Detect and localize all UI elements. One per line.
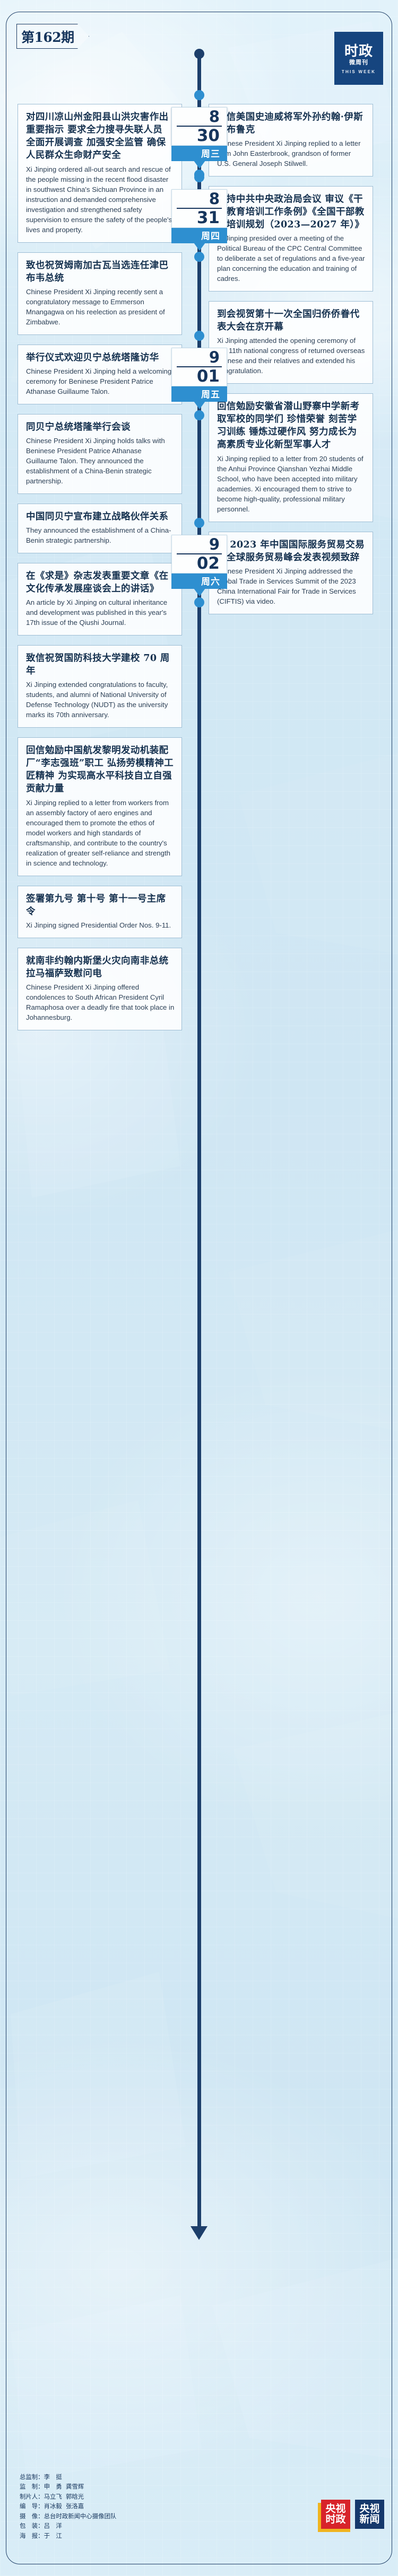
date-card: 901 [171, 348, 227, 386]
credit-line: 监 制：申 勇 龚雪辉 [20, 2482, 116, 2491]
timeline-date-marker: 831周四 [171, 189, 227, 243]
news-card-english-body: Xi Jinping ordered all-out search and re… [26, 164, 175, 235]
date-card: 830 [171, 107, 227, 146]
timeline-date-marker: 830周三 [171, 107, 227, 161]
timeline-news-card[interactable]: 就南非约翰内斯堡火灾向南非总统拉马福萨致慰问电Chinese President… [18, 948, 182, 1030]
date-month: 9 [172, 537, 227, 552]
news-card-chinese-title: 对四川凉山州金阳县山洪灾害作出重要指示 要求全力搜寻失联人员 全面开展调查 加强… [26, 111, 175, 162]
date-card: 831 [171, 189, 227, 228]
credit-line: 总监制：李 挺 [20, 2472, 116, 2482]
timeline-news-card[interactable]: 中国同贝宁宣布建立战略伙伴关系They announced the establ… [18, 504, 182, 553]
timeline-news-card[interactable]: 向 2023 年中国国际服务贸易交易会全球服务贸易峰会发表视频致辞Chinese… [209, 532, 373, 614]
news-card-english-body: Chinese President Xi Jinping held a welc… [26, 366, 175, 396]
date-month: 8 [172, 192, 227, 207]
news-card-chinese-title: 举行仪式欢迎贝宁总统塔隆访华 [26, 351, 175, 364]
news-card-english-body: Xi Jinping presided over a meeting of th… [217, 233, 366, 284]
news-card-chinese-title: 到会视贺第十一次全国归侨侨眷代表大会在京开幕 [217, 308, 366, 333]
news-card-chinese-title: 回信勉励安徽省潜山野寨中学新考取军校的同学们 珍惜荣誉 刻苦学习训练 锤炼过硬作… [217, 400, 366, 452]
news-card-chinese-title: 复信美国史迪威将军外孙约翰·伊斯特布鲁克 [217, 111, 366, 136]
issue-number-badge: 第162期 [16, 24, 89, 49]
timeline-news-card[interactable]: 同贝宁总统塔隆举行会谈Chinese President Xi Jinping … [18, 414, 182, 494]
credit-line: 制片人：马立飞 郭晗光 [20, 2492, 116, 2501]
timeline-axis-dot [194, 90, 204, 100]
timeline-axis-dot [194, 518, 204, 528]
timeline-news-card[interactable]: 在《求是》杂志发表重要文章《在文化传承发展座谈会上的讲话》An article … [18, 563, 182, 636]
news-card-english-body: Chinese President Xi Jinping replied to … [217, 138, 366, 169]
logo-english-text: THIS WEEK [342, 69, 376, 74]
date-weekday: 周五 [171, 386, 227, 402]
date-day: 30 [172, 128, 227, 145]
cctv-shizheng-line2b: 政 [336, 2513, 346, 2525]
credit-line: 编 导：肖冰毅 张洛嘉 [20, 2501, 116, 2511]
date-month: 9 [172, 350, 227, 365]
timeline-news-card[interactable]: 致也祝贺姆南加古瓦当选连任津巴布韦总统Chinese President Xi … [18, 252, 182, 335]
date-month: 8 [172, 110, 227, 125]
news-card-chinese-title: 就南非约翰内斯堡火灾向南非总统拉马福萨致慰问电 [26, 955, 175, 980]
footer-logos: 央视 时政 央视 新闻 [321, 2500, 384, 2529]
logo-side-text: 微周刊 [349, 59, 368, 66]
timeline-axis-dot [194, 331, 204, 341]
news-card-chinese-title: 主持中共中央政治局会议 审议《干部教育培训工作条例》《全国干部教育培训规划（20… [217, 193, 366, 231]
news-card-chinese-title: 同贝宁总统塔隆举行会谈 [26, 421, 175, 434]
timeline-news-card[interactable]: 回信勉励中国航发黎明发动机装配厂“李志强班”职工 弘扬劳模精神工匠精神 为实现高… [18, 737, 182, 876]
news-card-chinese-title: 在《求是》杂志发表重要文章《在文化传承发展座谈会上的讲话》 [26, 570, 175, 595]
news-card-chinese-title: 向 2023 年中国国际服务贸易交易会全球服务贸易峰会发表视频致辞 [217, 539, 366, 564]
credits-block: 总监制：李 挺监 制：申 勇 龚雪辉制片人：马立飞 郭晗光编 导：肖冰毅 张洛嘉… [20, 2472, 116, 2540]
timeline-axis-dot [194, 252, 204, 262]
credit-line: 包 装：吕 洋 [20, 2521, 116, 2530]
shizheng-weekly-logo: 时政 微周刊 THIS WEEK [334, 32, 383, 85]
credit-line: 摄 像：总台时政新闻中心摄像团队 [20, 2511, 116, 2521]
news-card-chinese-title: 致信祝贺国防科技大学建校 70 周年 [26, 652, 175, 677]
timeline-news-card[interactable]: 对四川凉山州金阳县山洪灾害作出重要指示 要求全力搜寻失联人员 全面开展调查 加强… [18, 104, 182, 243]
news-card-english-body: Xi Jinping replied to a letter from work… [26, 798, 175, 868]
news-card-english-body: Xi Jinping extended congratulations to f… [26, 680, 175, 720]
date-weekday: 周三 [171, 146, 227, 161]
news-card-english-body: They announced the establishment of a Ch… [26, 525, 175, 545]
news-card-english-body: Xi Jinping attended the opening ceremony… [217, 336, 366, 376]
date-day: 02 [172, 555, 227, 573]
news-card-english-body: Chinese President Xi Jinping addressed t… [217, 566, 366, 606]
timeline-news-card[interactable]: 致信祝贺国防科技大学建校 70 周年Xi Jinping extended co… [18, 645, 182, 728]
date-weekday: 周六 [171, 574, 227, 589]
timeline-axis-dot [194, 172, 204, 182]
timeline-axis-arrow-icon [191, 2226, 207, 2240]
timeline-news-card[interactable]: 举行仪式欢迎贝宁总统塔隆访华Chinese President Xi Jinpi… [18, 345, 182, 404]
timeline-axis-dot [194, 410, 204, 420]
cctv-shizheng-line2a: 时 [325, 2513, 335, 2525]
date-day: 01 [172, 368, 227, 386]
news-card-english-body: Chinese President Xi Jinping offered con… [26, 982, 175, 1022]
timeline-date-marker: 901周五 [171, 348, 227, 402]
timeline-news-card[interactable]: 复信美国史迪威将军外孙约翰·伊斯特布鲁克Chinese President Xi… [209, 104, 373, 177]
date-weekday: 周四 [171, 228, 227, 243]
logo-main-text: 时政 [344, 45, 373, 58]
timeline-news-card[interactable]: 回信勉励安徽省潜山野寨中学新考取军校的同学们 珍惜荣誉 刻苦学习训练 锤炼过硬作… [209, 393, 373, 522]
news-card-english-body: Chinese President Xi Jinping recently se… [26, 287, 175, 327]
news-card-chinese-title: 中国同贝宁宣布建立战略伙伴关系 [26, 510, 175, 523]
news-card-english-body: Xi Jinping signed Presidential Order Nos… [26, 920, 175, 930]
news-card-english-body: Chinese President Xi Jinping holds talks… [26, 436, 175, 486]
credit-line: 海 报：于 江 [20, 2531, 116, 2540]
timeline-axis-cap [194, 49, 204, 59]
cctv-news-line2b: 闻 [370, 2513, 380, 2525]
cctv-shizheng-logo: 央视 时政 [321, 2500, 350, 2529]
issue-number-label: 第162期 [16, 24, 89, 49]
timeline-news-card[interactable]: 主持中共中央政治局会议 审议《干部教育培训工作条例》《全国干部教育培训规划（20… [209, 186, 373, 292]
news-card-english-body: Xi Jinping replied to a letter from 20 s… [217, 454, 366, 514]
date-day: 31 [172, 210, 227, 227]
timeline-date-marker: 902周六 [171, 535, 227, 589]
date-card: 902 [171, 535, 227, 574]
news-card-english-body: An article by Xi Jinping on cultural inh… [26, 597, 175, 628]
news-card-chinese-title: 回信勉励中国航发黎明发动机装配厂“李志强班”职工 弘扬劳模精神工匠精神 为实现高… [26, 744, 175, 796]
timeline-axis-dot [194, 597, 204, 607]
cctv-news-logo: 央视 新闻 [355, 2500, 384, 2529]
cctv-news-line2a: 新 [359, 2513, 369, 2525]
news-card-chinese-title: 签署第九号 第十号 第十一号主席令 [26, 893, 175, 918]
news-card-chinese-title: 致也祝贺姆南加古瓦当选连任津巴布韦总统 [26, 259, 175, 285]
timeline-news-card[interactable]: 到会视贺第十一次全国归侨侨眷代表大会在京开幕Xi Jinping attende… [209, 301, 373, 384]
timeline-news-card[interactable]: 签署第九号 第十号 第十一号主席令Xi Jinping signed Presi… [18, 886, 182, 938]
